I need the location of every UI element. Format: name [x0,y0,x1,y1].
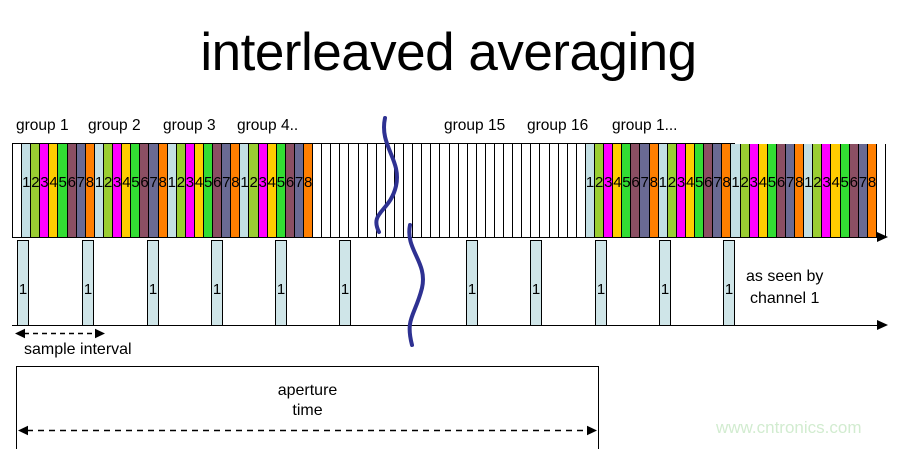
band-slot-channel: 3 [604,144,613,237]
band-slot-channel: 1 [95,144,104,237]
band-slot-blank [340,144,349,237]
band-slot-blank [377,144,386,237]
seen-by-line-1: as seen by [746,266,823,288]
channel-digit: 5 [768,175,776,190]
band-slot-channel: 7 [149,144,158,237]
channel-digit: 8 [650,175,658,190]
channel-digit: 1 [586,175,594,190]
channel-digit: 4 [831,175,839,190]
band-slot-channel: 8 [86,144,95,237]
time-axis-bottom-line [12,325,878,326]
band-slot-channel: 2 [104,144,113,237]
band-slot-channel: 8 [868,144,877,237]
band-slot-channel: 6 [68,144,77,237]
band-slot-channel: 7 [859,144,868,237]
channel-digit: 7 [77,175,85,190]
channel-digit: 4 [686,175,694,190]
band-slot-channel: 7 [77,144,86,237]
band-slot-blank [322,144,331,237]
channel-digit: 3 [259,175,267,190]
band-slot-blank [395,144,404,237]
band-slot-blank [477,144,486,237]
aperture-time-label: aperture time [16,381,599,421]
band-slot-blank [495,144,504,237]
channel-digit: 7 [295,175,303,190]
band-slot-channel: 5 [841,144,850,237]
band-slot-channel: 6 [140,144,149,237]
band-slot-channel: 4 [49,144,58,237]
pulse-label: 1 [276,282,286,297]
channel-1-pulse: 1 [17,240,29,326]
page-title: interleaved averaging [0,22,897,84]
band-slot-blank [331,144,340,237]
band-slot-channel: 7 [222,144,231,237]
channel-digit: 3 [822,175,830,190]
channel-digit: 5 [277,175,285,190]
band-slot-channel: 2 [813,144,822,237]
band-slot-channel: 5 [622,144,631,237]
channel-digit: 5 [841,175,849,190]
channel-digit: 6 [631,175,639,190]
band-slot-channel: 4 [268,144,277,237]
band-slot-channel: 5 [131,144,140,237]
channel-digit: 1 [659,175,667,190]
channel-digit: 6 [704,175,712,190]
channel-digit: 4 [759,175,767,190]
band-slot-channel: 5 [768,144,777,237]
channel-digit: 3 [604,175,612,190]
channel-digit: 8 [159,175,167,190]
channel-digit: 2 [813,175,821,190]
band-slot-channel: 6 [286,144,295,237]
channel-digit: 1 [731,175,739,190]
pulse-label: 1 [18,282,28,297]
channel-1-pulse: 1 [723,240,735,326]
band-slot-blank [450,144,459,237]
channel-digit: 3 [750,175,758,190]
pulse-label: 1 [724,282,734,297]
channel-digit: 8 [795,175,803,190]
group-label: group 1 [16,117,69,135]
band-slot-channel: 2 [595,144,604,237]
channel-digit: 4 [613,175,621,190]
band-slot-channel: 1 [168,144,177,237]
channel-digit: 2 [741,175,749,190]
band-slot-channel: 1 [240,144,249,237]
channel-digit: 5 [622,175,630,190]
channel-digit: 1 [168,175,176,190]
channel-1-pulse: 1 [530,240,542,326]
time-axis-bottom-arrowhead [877,320,888,330]
channel-digit: 4 [122,175,130,190]
band-slot-blank [886,144,895,237]
time-axis-top-line [12,237,878,238]
band-slot-channel: 2 [31,144,40,237]
band-slot-channel: 4 [195,144,204,237]
band-slot-channel: 8 [650,144,659,237]
aperture-time-line-1: aperture [16,381,599,401]
channel-1-pulse: 1 [466,240,478,326]
band-slot-blank [486,144,495,237]
band-slot-channel: 7 [295,144,304,237]
band-slot-blank [513,144,522,237]
band-slot-blank [568,144,577,237]
band-slot-blank [577,144,586,237]
band-slot-channel: 2 [177,144,186,237]
pulse-label: 1 [83,282,93,297]
channel-digit: 1 [804,175,812,190]
band-slot-channel: 2 [668,144,677,237]
band-slot-channel: 3 [750,144,759,237]
band-slot-channel: 2 [741,144,750,237]
channel-1-pulse: 1 [147,240,159,326]
channel-digit: 5 [58,175,66,190]
channel-digit: 2 [249,175,257,190]
band-slot-channel: 4 [831,144,840,237]
channel-digit: 7 [222,175,230,190]
band-slot-channel: 1 [586,144,595,237]
band-slot-blank [413,144,422,237]
group-label: group 4.. [237,117,298,135]
band-slot-blank [359,144,368,237]
channel-digit: 2 [104,175,112,190]
band-slot-channel: 1 [731,144,740,237]
band-slot-channel: 3 [40,144,49,237]
band-slot-channel: 1 [804,144,813,237]
channel-digit: 5 [204,175,212,190]
channel-digit: 4 [268,175,276,190]
channel-digit: 7 [149,175,157,190]
band-slot-blank [313,144,322,237]
band-slot-blank [877,144,886,237]
channel-digit: 1 [240,175,248,190]
seen-by-line-2: channel 1 [746,288,823,310]
band-slot-channel: 7 [640,144,649,237]
channel-digit: 3 [113,175,121,190]
band-slot-blank [404,144,413,237]
band-slot-blank [540,144,549,237]
channel-digit: 7 [640,175,648,190]
pulse-label: 1 [531,282,541,297]
channel-digit: 2 [595,175,603,190]
band-slot-blank [522,144,531,237]
band-slot-blank [349,144,358,237]
band-slot-channel: 1 [22,144,31,237]
channel-digit: 8 [231,175,239,190]
group-label: group 1... [612,117,678,135]
channel-digit: 6 [777,175,785,190]
band-slot-channel: 6 [213,144,222,237]
band-slot-channel: 2 [249,144,258,237]
channel-digit: 7 [859,175,867,190]
group-label: group 15 [444,117,505,135]
channel-digit: 8 [304,175,312,190]
channel-1-pulse: 1 [82,240,94,326]
channel-digit: 2 [31,175,39,190]
aperture-time-arrow [18,425,597,436]
band-slot-channel: 4 [759,144,768,237]
channel-1-pulse: 1 [595,240,607,326]
channel-digit: 7 [713,175,721,190]
group-label: group 16 [527,117,588,135]
channel-digit: 6 [140,175,148,190]
band-slot-channel: 8 [795,144,804,237]
pulse-label: 1 [467,282,477,297]
channel-digit: 8 [86,175,94,190]
band-slot-channel: 7 [786,144,795,237]
band-slot-blank [504,144,513,237]
channel-digit: 8 [868,175,876,190]
band-slot-channel: 4 [613,144,622,237]
channel-1-pulse: 1 [339,240,351,326]
sample-interval-arrow [15,328,105,339]
channel-digit: 8 [722,175,730,190]
band-slot-blank [386,144,395,237]
band-slot-channel: 5 [277,144,286,237]
channel-digit: 2 [177,175,185,190]
channel-digit: 1 [22,175,30,190]
band-slot-channel: 1 [659,144,668,237]
band-slot-blank [468,144,477,237]
pulse-label: 1 [596,282,606,297]
pulse-label: 1 [148,282,158,297]
channel-1-pulse: 1 [659,240,671,326]
band-slot-blank [13,144,22,237]
channel-digit: 1 [95,175,103,190]
channel-1-pulse: 1 [275,240,287,326]
channel-digit: 5 [131,175,139,190]
channel-digit: 3 [40,175,48,190]
band-slot-channel: 8 [159,144,168,237]
band-slot-channel: 6 [704,144,713,237]
band-slot-channel: 8 [231,144,240,237]
band-slot-blank [422,144,431,237]
group-label: group 2 [88,117,141,135]
band-slot-channel: 6 [777,144,786,237]
channel-digit: 6 [68,175,76,190]
channel-digit: 5 [695,175,703,190]
band-slot-channel: 3 [259,144,268,237]
as-seen-by-channel-annotation: as seen by channel 1 [746,266,823,310]
interleaved-sample-band: 1234567812345678123456781234567812345678… [12,143,735,238]
channel-digit: 2 [668,175,676,190]
band-slot-blank [531,144,540,237]
band-slot-blank [559,144,568,237]
channel-1-pulse: 1 [211,240,223,326]
band-slot-channel: 6 [850,144,859,237]
band-slot-channel: 4 [122,144,131,237]
band-slot-channel: 3 [822,144,831,237]
band-slot-channel: 7 [713,144,722,237]
pulse-label: 1 [660,282,670,297]
group-label: group 3 [163,117,216,135]
band-slot-blank [431,144,440,237]
band-slot-channel: 3 [677,144,686,237]
channel-digit: 3 [186,175,194,190]
aperture-time-line-2: time [16,401,599,421]
band-slot-channel: 5 [204,144,213,237]
channel-digit: 4 [49,175,57,190]
channel-digit: 6 [213,175,221,190]
band-slot-channel: 8 [722,144,731,237]
band-slot-channel: 5 [58,144,67,237]
pulse-label: 1 [212,282,222,297]
band-slot-channel: 5 [695,144,704,237]
site-watermark: www.cntronics.com [716,418,861,438]
band-slot-channel: 4 [686,144,695,237]
band-slot-channel: 3 [113,144,122,237]
band-slot-blank [550,144,559,237]
pulse-label: 1 [340,282,350,297]
channel-digit: 6 [850,175,858,190]
channel-digit: 6 [286,175,294,190]
band-slot-channel: 6 [631,144,640,237]
band-slot-channel: 8 [304,144,313,237]
channel-digit: 7 [786,175,794,190]
band-slot-channel: 3 [186,144,195,237]
channel-digit: 4 [195,175,203,190]
band-slot-blank [368,144,377,237]
channel-digit: 3 [677,175,685,190]
sample-interval-label: sample interval [24,341,132,359]
band-slot-blank [459,144,468,237]
band-slot-blank [440,144,449,237]
